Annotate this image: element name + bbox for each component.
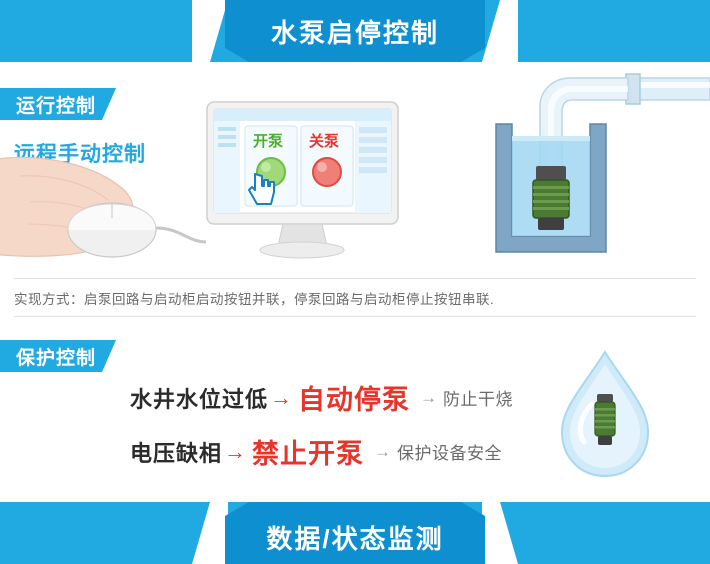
protection-effect: 防止干烧 [443,385,513,410]
monitor-start-button-label[interactable]: 开泵 [253,130,283,151]
note-divider-bottom [14,316,696,317]
top-banner: 水泵启停控制 [0,0,710,62]
computer-mouse-icon [0,150,215,270]
protection-effect-arrow-icon: → [420,388,437,408]
protection-effect: 保护设备安全 [397,439,502,464]
protection-condition: 水井水位过低 [130,382,268,414]
protection-effect-arrow-icon: → [374,442,391,462]
bottom-banner: 数据/状态监测 [0,502,710,564]
monitor-stop-button-label[interactable]: 关泵 [309,130,339,151]
water-drop-illustration [540,346,670,486]
protection-row: 水井水位过低 → 自动停泵 → 防止干烧 [130,378,513,417]
hand-on-mouse-illustration [0,150,215,270]
protection-action: 禁止开泵 [252,432,364,471]
protection-row: 电压缺相 → 禁止开泵 → 保护设备安全 [130,432,502,471]
desktop-monitor-icon [205,100,400,265]
top-banner-title: 水泵启停控制 [0,0,710,62]
desktop-monitor-illustration: 开泵 关泵 [205,100,400,265]
protection-arrow-icon: → [270,385,292,411]
note-divider-top [14,278,696,279]
bottom-banner-title: 数据/状态监测 [0,502,710,564]
protection-arrow-icon: → [224,439,246,465]
water-drop-icon [540,346,670,486]
water-well-illustration [478,62,710,262]
section-tag-run-control-label: 运行控制 [16,91,96,118]
protection-action: 自动停泵 [298,378,410,417]
section-tag-protect-control: 保护控制 [0,340,116,372]
section-tag-run-control: 运行控制 [0,88,116,120]
section-tag-protect-control-label: 保护控制 [16,343,96,370]
implementation-note: 实现方式：启泵回路与启动柜启动按钮并联，停泵回路与启动柜停止按钮串联. [14,288,696,308]
protection-condition: 电压缺相 [130,436,222,468]
water-well-pump-icon [478,62,710,262]
